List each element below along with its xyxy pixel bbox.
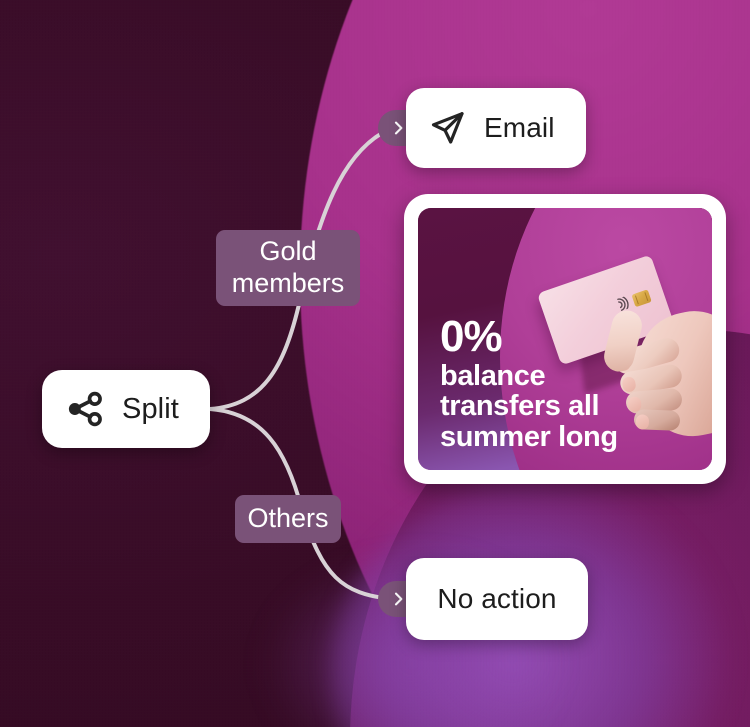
finger-pinky <box>634 409 681 431</box>
split-icon <box>64 388 106 430</box>
branch-chip-others[interactable]: Others <box>235 495 341 543</box>
hand-graphic <box>606 306 712 446</box>
emv-chip-icon <box>631 289 651 307</box>
node-email[interactable]: Email <box>406 88 586 168</box>
send-icon <box>428 108 468 148</box>
node-no-action[interactable]: No action <box>406 558 588 640</box>
node-no-action-label: No action <box>437 583 556 615</box>
promo-line-1: balance <box>440 361 618 391</box>
promo-percent: 0% <box>440 315 618 359</box>
flow-canvas: Split Gold members Others Email No actio… <box>0 0 750 727</box>
promo-headline: 0% balance transfers all summer long <box>440 315 618 452</box>
node-email-label: Email <box>484 112 555 144</box>
node-split[interactable]: Split <box>42 370 210 448</box>
promo-creative-image: 0% balance transfers all summer long <box>418 208 712 470</box>
promo-line-2: transfers all <box>440 391 618 421</box>
branch-chip-gold-members-line2: members <box>232 268 345 300</box>
chevron-right-icon <box>390 591 406 607</box>
fingernail <box>636 414 650 429</box>
branch-chip-gold-members-line1: Gold <box>259 236 316 268</box>
node-split-label: Split <box>122 393 179 426</box>
chevron-right-icon <box>390 120 406 136</box>
branch-chip-gold-members[interactable]: Gold members <box>216 230 360 306</box>
promo-creative-card[interactable]: 0% balance transfers all summer long <box>404 194 726 484</box>
fingernail <box>621 376 636 393</box>
promo-line-3: summer long <box>440 422 618 452</box>
branch-chip-others-label: Others <box>247 503 328 535</box>
